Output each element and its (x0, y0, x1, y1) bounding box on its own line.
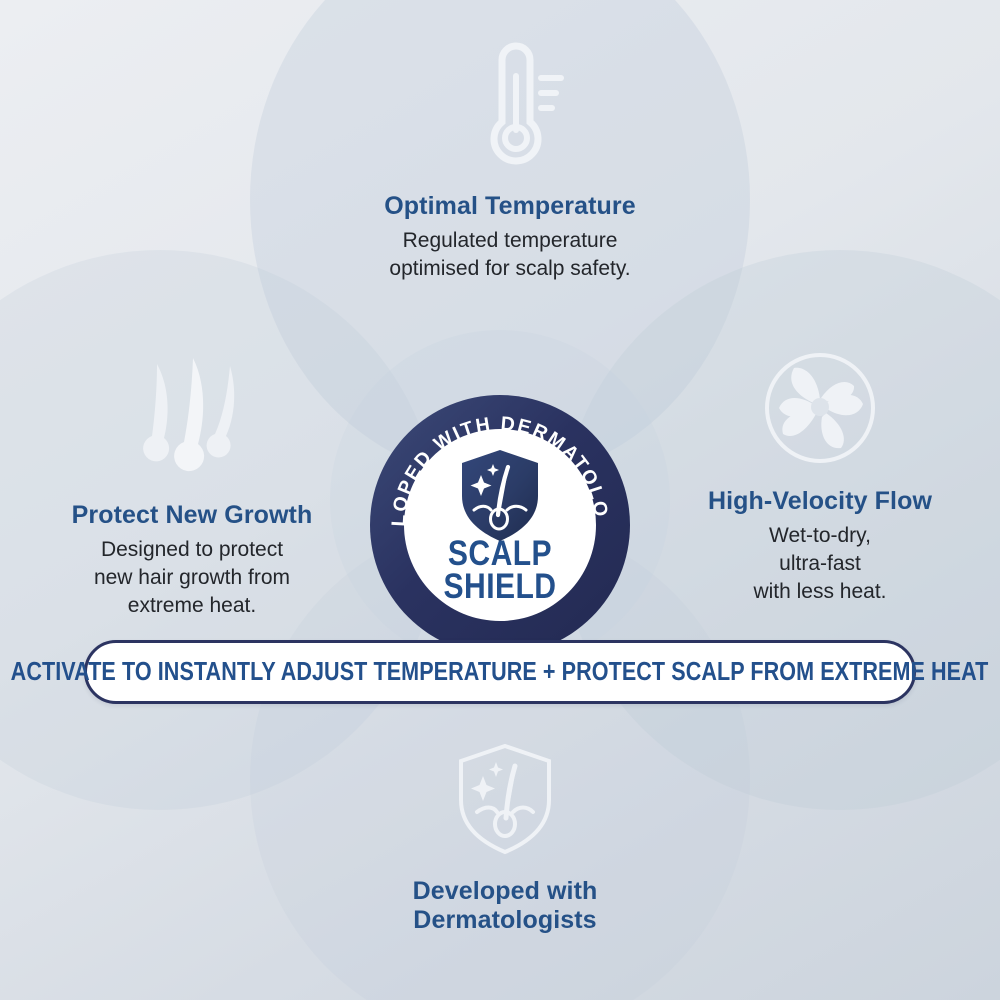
feature-desc-line: ultra-fast (650, 550, 990, 578)
feature-title: Developed with Dermatologists (340, 877, 670, 935)
feature-desc-line: Designed to protect (18, 536, 366, 564)
fan-icon (650, 348, 990, 473)
infographic-canvas: Optimal Temperature Regulated temperatur… (0, 0, 1000, 1000)
banner-text: ACTIVATE TO INSTANTLY ADJUST TEMPERATURE… (11, 658, 989, 687)
feature-description: Regulated temperature optimised for scal… (320, 227, 700, 283)
badge-brand-line2: SHIELD (444, 566, 557, 606)
feature-title-line: Dermatologists (413, 906, 596, 934)
feature-description: Designed to protect new hair growth from… (18, 536, 366, 620)
shield-follicle-icon (340, 740, 670, 863)
feature-desc-line: Regulated temperature (320, 227, 700, 255)
feature-optimal-temperature: Optimal Temperature Regulated temperatur… (320, 38, 700, 283)
feature-high-velocity-flow: High-Velocity Flow Wet-to-dry, ultra-fas… (650, 348, 990, 606)
feature-title: Optimal Temperature (320, 192, 700, 221)
feature-desc-line: Wet-to-dry, (650, 522, 990, 550)
feature-desc-line: new hair growth from (18, 564, 366, 592)
hair-follicles-icon (18, 352, 366, 487)
activate-banner: ACTIVATE TO INSTANTLY ADJUST TEMPERATURE… (84, 640, 916, 704)
scalp-shield-seal-icon: DEVELOPED WITH DERMATOLOGISTS STYLIST AP… (368, 393, 632, 657)
feature-desc-line: optimised for scalp safety. (320, 255, 700, 283)
feature-desc-line: extreme heat. (18, 592, 366, 620)
feature-description: Wet-to-dry, ultra-fast with less heat. (650, 522, 990, 606)
feature-title-line: Developed with (413, 877, 598, 905)
feature-title: High-Velocity Flow (650, 487, 990, 516)
thermometer-icon (320, 38, 700, 178)
feature-desc-line: with less heat. (650, 578, 990, 606)
feature-developed-with-dermatologists: Developed with Dermatologists (340, 740, 670, 941)
feature-title: Protect New Growth (18, 501, 366, 530)
feature-protect-new-growth: Protect New Growth Designed to protect n… (18, 352, 366, 620)
